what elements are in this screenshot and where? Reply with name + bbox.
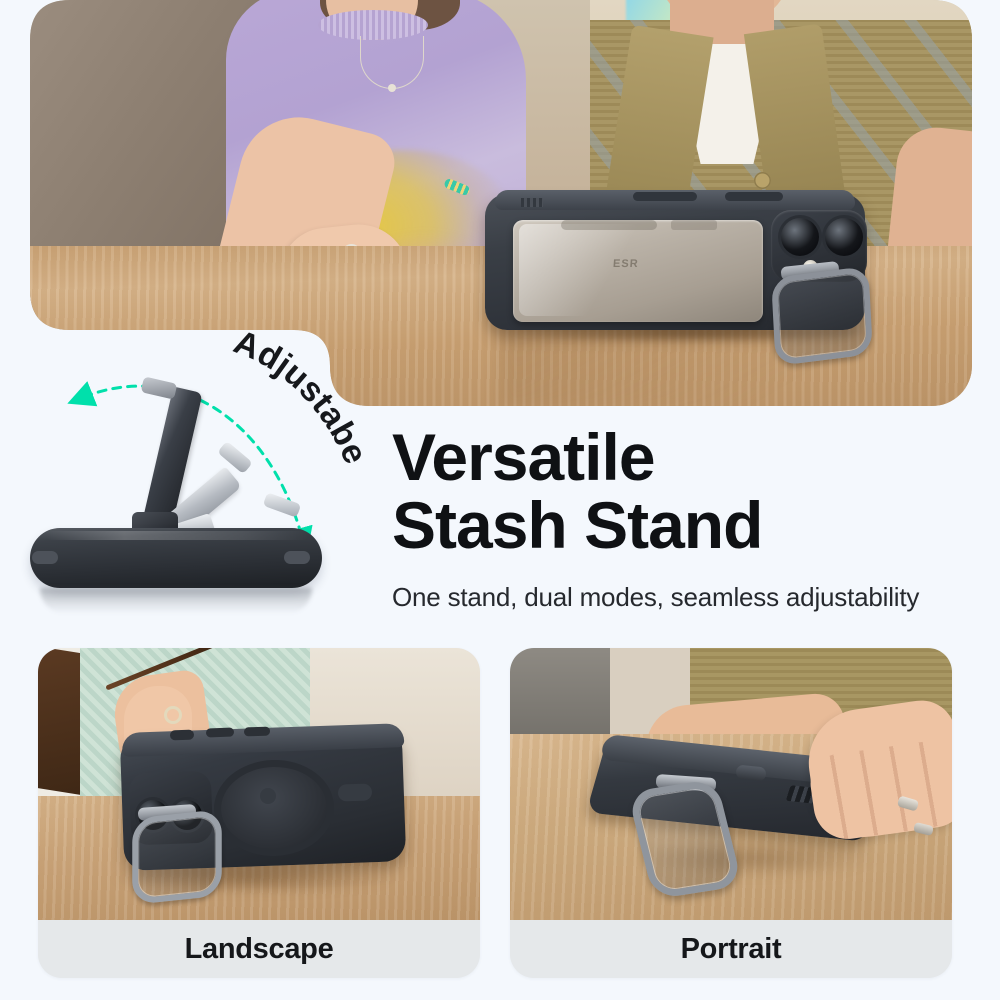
marketing-page: ESR (0, 0, 1000, 1000)
adjustable-stand-diagram: Adjustabe (22, 352, 382, 622)
esr-logo: ESR (613, 258, 639, 270)
phone-button-power (725, 192, 783, 201)
portrait-caption-label: Portrait (681, 933, 782, 966)
landscape-case-pill-detail (338, 783, 373, 801)
power-bank-spec-text-2 (671, 220, 717, 230)
power-bank-spec-text (561, 220, 657, 230)
person-left-pendant (388, 84, 396, 92)
stand-notch-left (32, 551, 58, 564)
stand-top-highlight (46, 531, 308, 540)
landscape-mode-panel: Landscape (38, 648, 480, 978)
portrait-caption-bar: Portrait (510, 920, 952, 978)
stand-reflection (40, 588, 312, 614)
landscape-phone-button-1 (170, 730, 194, 741)
camera-lens-wide (781, 218, 819, 256)
phone-button-volume (633, 192, 697, 201)
landscape-phone-button-2 (206, 728, 234, 738)
hero-photo-content: ESR (30, 0, 972, 406)
phone-speaker-vents (521, 198, 543, 207)
power-bank-highlight (519, 224, 639, 316)
stand-notch-right (284, 551, 310, 564)
landscape-person-ring (164, 706, 182, 724)
landscape-magsafe-center (260, 788, 276, 804)
metal-ring-stand (771, 266, 873, 366)
landscape-phone-button-3 (244, 727, 270, 737)
hero-product: ESR (485, 186, 875, 336)
headline-line-2: Stash Stand (392, 488, 762, 562)
landscape-metal-loop-stand (132, 809, 222, 905)
portrait-mode-panel: Portrait (510, 648, 952, 978)
headline-line-1: Versatile (392, 420, 655, 494)
landscape-photo (38, 648, 480, 920)
page-title: Versatile Stash Stand (392, 424, 972, 560)
portrait-photo (510, 648, 952, 920)
camera-lens-ultrawide (825, 218, 863, 256)
headline-subtitle: One stand, dual modes, seamless adjustab… (392, 582, 972, 613)
headline-block: Versatile Stash Stand One stand, dual mo… (392, 424, 972, 613)
landscape-caption-bar: Landscape (38, 920, 480, 978)
lifestyle-hero-photo: ESR (30, 0, 972, 406)
landscape-caption-label: Landscape (185, 933, 334, 966)
